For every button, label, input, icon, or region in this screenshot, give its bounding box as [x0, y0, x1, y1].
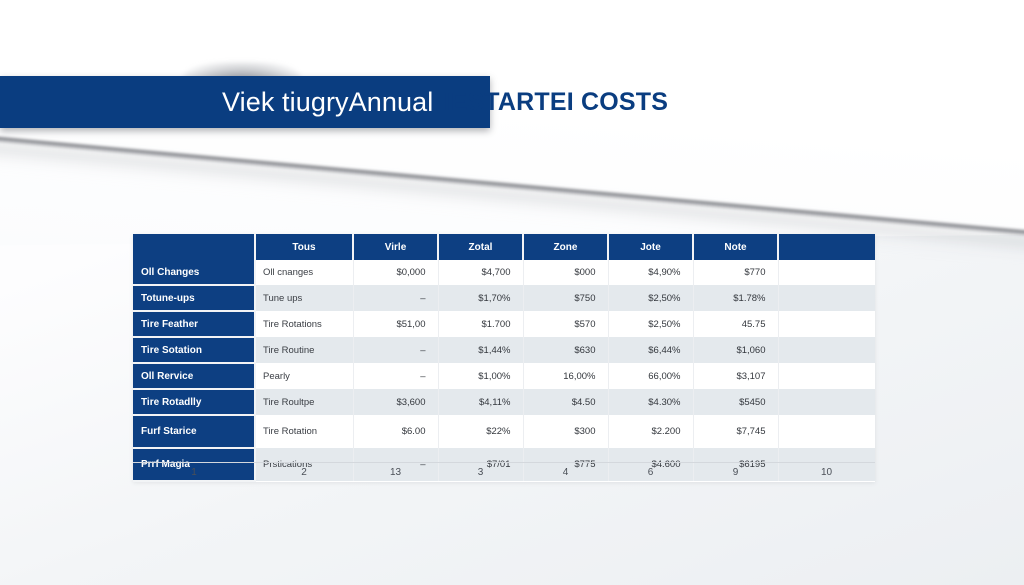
table-row[interactable]: Tire SotationTire Routine–$1,44%$630$6,4…: [133, 337, 875, 363]
row-cell-value: 45.75: [693, 311, 778, 337]
row-cell-value: $4,11%: [438, 389, 523, 415]
row-cell-value: $51,00: [353, 311, 438, 337]
row-description: Tire Rotations: [255, 311, 353, 337]
row-cell-value: $4.50: [523, 389, 608, 415]
table-row[interactable]: Tire FeatherTire Rotations$51,00$1.700$5…: [133, 311, 875, 337]
table-row[interactable]: Oll ChangesOll cnanges$0,000$4,700$000$4…: [133, 260, 875, 285]
row-cell-blank: [778, 260, 875, 285]
row-cell-blank: [778, 363, 875, 389]
row-cell-value: $4,90%: [608, 260, 693, 285]
row-cell-value: 66,00%: [608, 363, 693, 389]
row-cell-value: –: [353, 285, 438, 311]
table-row[interactable]: Totune-upsTune ups–$1,70%$750$2,50%$1.78…: [133, 285, 875, 311]
cost-table: Tous Virle Zotal Zone Jote Note Oll Chan…: [133, 234, 875, 482]
footer-number: 1: [133, 463, 255, 483]
row-cell-value: $6.00: [353, 415, 438, 448]
row-cell-value: $2,50%: [608, 285, 693, 311]
row-cell-value: –: [353, 363, 438, 389]
row-cell-value: $300: [523, 415, 608, 448]
row-cell-blank: [778, 311, 875, 337]
column-header-tous[interactable]: Tous: [255, 234, 353, 260]
table-body: Oll ChangesOll cnanges$0,000$4,700$000$4…: [133, 260, 875, 481]
footer-number: 2: [255, 463, 353, 483]
row-label: Totune-ups: [133, 285, 255, 311]
title-banner: [0, 76, 490, 128]
row-cell-value: $6,44%: [608, 337, 693, 363]
row-label: Tire Rotadlly: [133, 389, 255, 415]
row-cell-value: $3,600: [353, 389, 438, 415]
table-row[interactable]: Furf StariceTire Rotation$6.00$22%$300$2…: [133, 415, 875, 448]
footer-number: 9: [693, 463, 778, 483]
table-header-row: Tous Virle Zotal Zone Jote Note: [133, 234, 875, 260]
row-description: Tune ups: [255, 285, 353, 311]
row-cell-blank: [778, 337, 875, 363]
row-description: Pearly: [255, 363, 353, 389]
row-cell-value: $1.78%: [693, 285, 778, 311]
row-cell-value: $000: [523, 260, 608, 285]
row-cell-value: $1.700: [438, 311, 523, 337]
row-cell-value: $4,700: [438, 260, 523, 285]
row-label: Oll Changes: [133, 260, 255, 285]
row-cell-value: $2.200: [608, 415, 693, 448]
row-cell-value: $1,00%: [438, 363, 523, 389]
row-cell-value: $2,50%: [608, 311, 693, 337]
column-header-blank-right[interactable]: [778, 234, 875, 260]
cost-table-container: Tous Virle Zotal Zone Jote Note Oll Chan…: [133, 234, 875, 482]
row-cell-value: $770: [693, 260, 778, 285]
row-cell-blank: [778, 389, 875, 415]
row-description: Tire Roultpe: [255, 389, 353, 415]
row-description: Tire Routine: [255, 337, 353, 363]
row-cell-value: $570: [523, 311, 608, 337]
row-cell-value: $1,70%: [438, 285, 523, 311]
row-label: Furf Starice: [133, 415, 255, 448]
row-cell-value: $630: [523, 337, 608, 363]
row-description: Tire Rotation: [255, 415, 353, 448]
row-label: Tire Feather: [133, 311, 255, 337]
row-cell-value: $5450: [693, 389, 778, 415]
row-cell-value: 16,00%: [523, 363, 608, 389]
footer-number: 4: [523, 463, 608, 483]
row-cell-value: $0,000: [353, 260, 438, 285]
row-cell-value: $1,060: [693, 337, 778, 363]
table-row[interactable]: Oll RervicePearly–$1,00%16,00%66,00%$3,1…: [133, 363, 875, 389]
column-header-note[interactable]: Note: [693, 234, 778, 260]
row-cell-blank: [778, 415, 875, 448]
row-label: Oll Rervice: [133, 363, 255, 389]
footer-number: 13: [353, 463, 438, 483]
row-cell-value: $3,107: [693, 363, 778, 389]
row-cell-value: –: [353, 337, 438, 363]
column-header-jote[interactable]: Jote: [608, 234, 693, 260]
column-header-zone[interactable]: Zone: [523, 234, 608, 260]
footer-number: 3: [438, 463, 523, 483]
column-header-blank-left[interactable]: [133, 234, 255, 260]
column-header-zotal[interactable]: Zotal: [438, 234, 523, 260]
row-cell-value: $1,44%: [438, 337, 523, 363]
slide-canvas: Viek tiugryAnnual IESTARTEI COSTS Tous V…: [0, 0, 1024, 585]
table-row[interactable]: Tire RotadllyTire Roultpe$3,600$4,11%$4.…: [133, 389, 875, 415]
table-footer-numbers: 1213346910: [133, 462, 875, 483]
row-cell-blank: [778, 285, 875, 311]
row-cell-value: $7,745: [693, 415, 778, 448]
table-header: Tous Virle Zotal Zone Jote Note: [133, 234, 875, 260]
footer-number: 6: [608, 463, 693, 483]
column-header-virle[interactable]: Virle: [353, 234, 438, 260]
row-cell-value: $750: [523, 285, 608, 311]
footer-number: 10: [778, 463, 875, 483]
row-cell-value: $22%: [438, 415, 523, 448]
row-description: Oll cnanges: [255, 260, 353, 285]
row-cell-value: $4.30%: [608, 389, 693, 415]
row-label: Tire Sotation: [133, 337, 255, 363]
